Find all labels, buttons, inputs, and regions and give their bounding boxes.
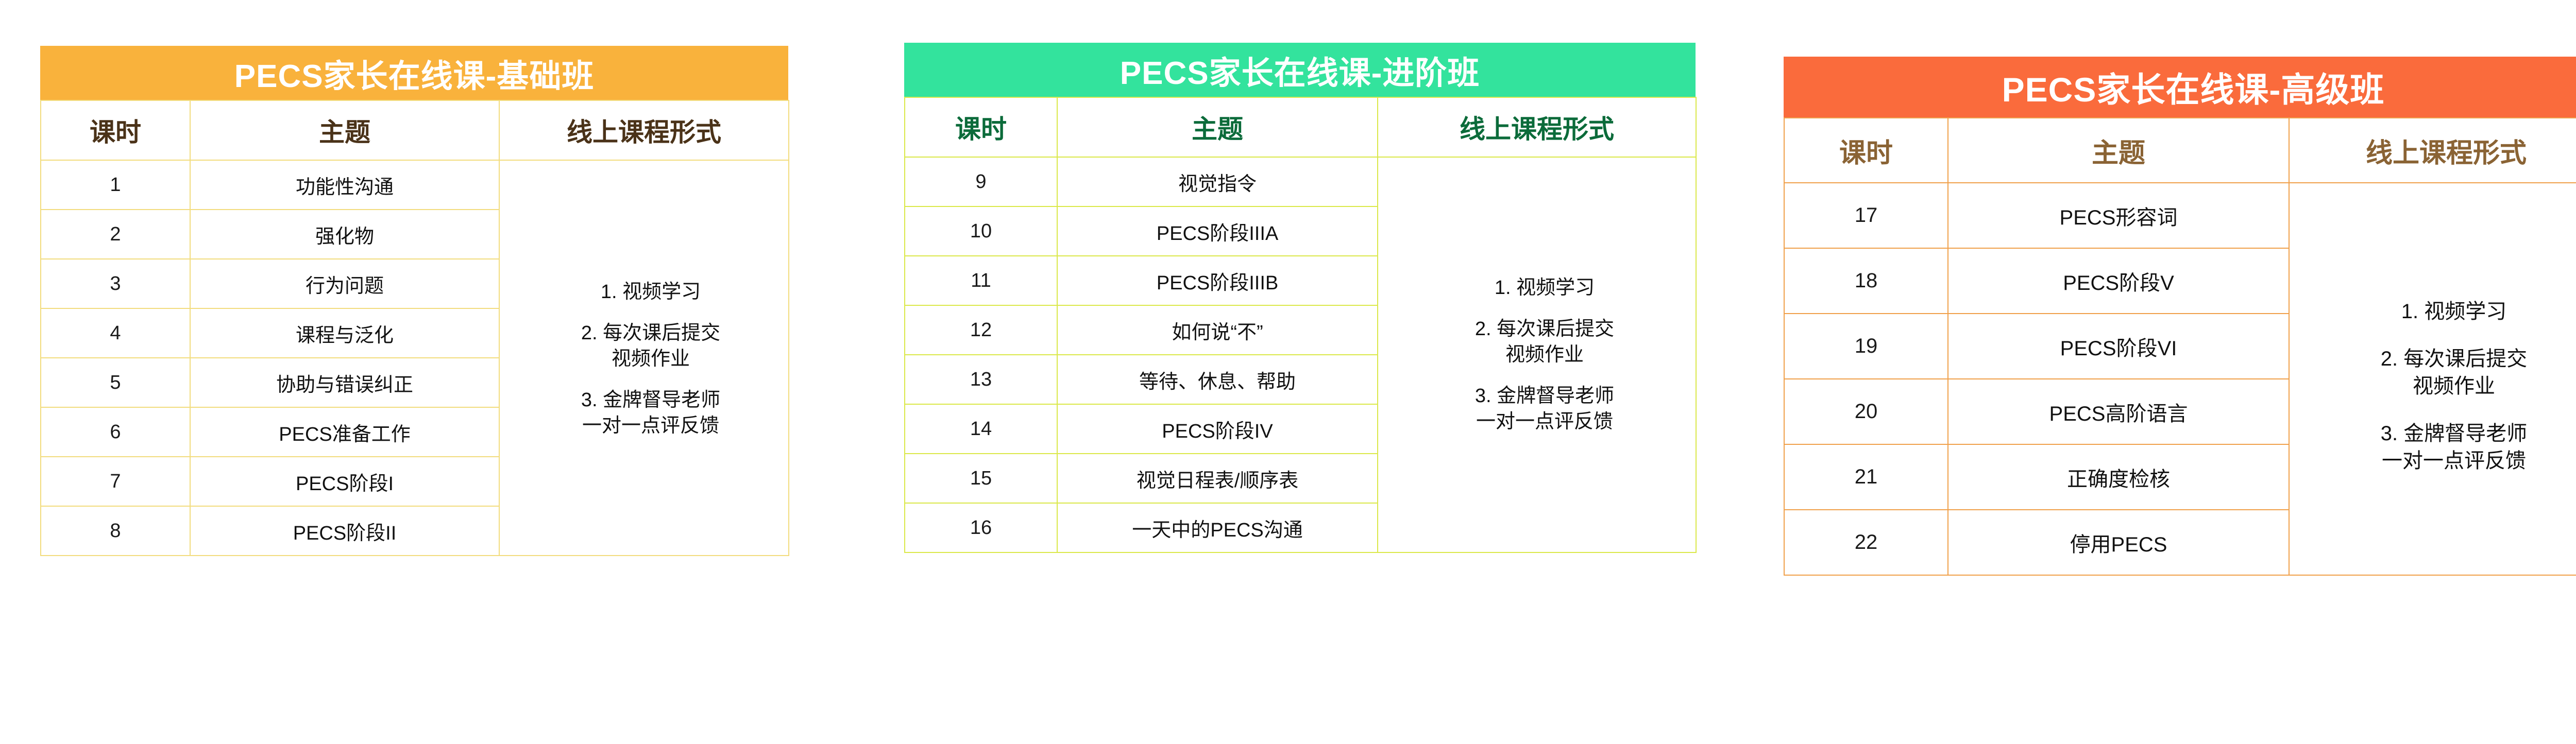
lesson-topic: 停用PECS — [1948, 510, 2289, 575]
column-header-lesson: 课时 — [905, 97, 1057, 157]
lesson-number: 10 — [905, 206, 1057, 256]
lesson-number: 12 — [905, 305, 1057, 355]
column-header-format: 线上课程形式 — [1378, 97, 1696, 157]
course-card-advanced-title: PECS家长在线课-进阶班 — [904, 43, 1696, 97]
lesson-topic: 课程与泛化 — [190, 308, 499, 358]
lesson-number: 17 — [1784, 183, 1948, 248]
table-row: 1 功能性沟通 1. 视频学习 2. 每次课后提交 视频作业 3. 金牌督导老师… — [41, 160, 789, 210]
lesson-topic: 等待、休息、帮助 — [1057, 355, 1378, 404]
online-format-cell: 1. 视频学习 2. 每次课后提交 视频作业 3. 金牌督导老师 一对一点评反馈 — [499, 160, 789, 556]
lesson-topic: PECS阶段I — [190, 457, 499, 506]
table-row: 9 视觉指令 1. 视频学习 2. 每次课后提交 视频作业 3. 金牌督导老师 … — [905, 157, 1696, 206]
lesson-topic: 正确度检核 — [1948, 444, 2289, 510]
format-item-1: 1. 视频学习 — [2305, 298, 2576, 326]
format-item-1: 1. 视频学习 — [1394, 275, 1696, 301]
lesson-number: 8 — [41, 506, 190, 556]
lesson-number: 15 — [905, 454, 1057, 503]
lesson-topic: PECS阶段IIIA — [1057, 206, 1378, 256]
course-schedule-board: PECS家长在线课-基础班 课时 主题 线上课程形式 1 功能性沟通 1 — [0, 0, 2576, 744]
lesson-number: 5 — [41, 358, 190, 407]
format-item-2: 2. 每次课后提交 视频作业 — [513, 320, 788, 372]
lesson-number: 7 — [41, 457, 190, 506]
format-item-2: 2. 每次课后提交 视频作业 — [1394, 316, 1696, 368]
lesson-number: 2 — [41, 210, 190, 259]
course-table-senior: 课时 主题 线上课程形式 17 PECS形容词 1. 视频学习 2. 每次课后提… — [1784, 117, 2576, 576]
lesson-number: 3 — [41, 259, 190, 308]
lesson-number: 9 — [905, 157, 1057, 206]
lesson-number: 6 — [41, 407, 190, 457]
lesson-topic: 如何说“不” — [1057, 305, 1378, 355]
format-item-2: 2. 每次课后提交 视频作业 — [2305, 345, 2576, 401]
online-format-cell: 1. 视频学习 2. 每次课后提交 视频作业 3. 金牌督导老师 一对一点评反馈 — [1378, 157, 1696, 552]
lesson-topic: PECS阶段IV — [1057, 404, 1378, 454]
lesson-topic: PECS高阶语言 — [1948, 379, 2289, 444]
lesson-number: 20 — [1784, 379, 1948, 444]
lesson-number: 22 — [1784, 510, 1948, 575]
lesson-topic: PECS阶段VI — [1948, 314, 2289, 379]
column-header-lesson: 课时 — [1784, 118, 1948, 183]
table-header-row: 课时 主题 线上课程形式 — [905, 97, 1696, 157]
lesson-number: 4 — [41, 308, 190, 358]
lesson-topic: PECS阶段II — [190, 506, 499, 556]
lesson-topic: 协助与错误纠正 — [190, 358, 499, 407]
lesson-number: 11 — [905, 256, 1057, 305]
column-header-lesson: 课时 — [41, 100, 190, 160]
lesson-topic: 一天中的PECS沟通 — [1057, 503, 1378, 552]
course-card-senior-title: PECS家长在线课-高级班 — [1784, 57, 2576, 117]
online-format-cell: 1. 视频学习 2. 每次课后提交 视频作业 3. 金牌督导老师 一对一点评反馈 — [2289, 183, 2576, 575]
format-item-3: 3. 金牌督导老师 一对一点评反馈 — [513, 387, 788, 439]
lesson-number: 18 — [1784, 248, 1948, 314]
format-list: 1. 视频学习 2. 每次课后提交 视频作业 3. 金牌督导老师 一对一点评反馈 — [1394, 275, 1696, 435]
lesson-number: 1 — [41, 160, 190, 210]
lesson-number: 16 — [905, 503, 1057, 552]
column-header-topic: 主题 — [1948, 118, 2289, 183]
lesson-topic: 视觉指令 — [1057, 157, 1378, 206]
course-table-basic: 课时 主题 线上课程形式 1 功能性沟通 1. 视频学习 2. 每次课后提交 视… — [40, 100, 789, 556]
format-item-3: 3. 金牌督导老师 一对一点评反馈 — [2305, 420, 2576, 475]
lesson-topic: 功能性沟通 — [190, 160, 499, 210]
lesson-number: 14 — [905, 404, 1057, 454]
format-list: 1. 视频学习 2. 每次课后提交 视频作业 3. 金牌督导老师 一对一点评反馈 — [2305, 298, 2576, 475]
table-header-row: 课时 主题 线上课程形式 — [1784, 118, 2576, 183]
format-item-3: 3. 金牌督导老师 一对一点评反馈 — [1394, 383, 1696, 435]
lesson-number: 19 — [1784, 314, 1948, 379]
table-row: 17 PECS形容词 1. 视频学习 2. 每次课后提交 视频作业 3. 金牌督… — [1784, 183, 2576, 248]
course-card-basic-title: PECS家长在线课-基础班 — [40, 46, 788, 100]
column-header-format: 线上课程形式 — [2289, 118, 2576, 183]
lesson-topic: 视觉日程表/顺序表 — [1057, 454, 1378, 503]
column-header-topic: 主题 — [1057, 97, 1378, 157]
lesson-topic: PECS阶段V — [1948, 248, 2289, 314]
lesson-topic: 行为问题 — [190, 259, 499, 308]
lesson-topic: 强化物 — [190, 210, 499, 259]
lesson-number: 21 — [1784, 444, 1948, 510]
column-header-format: 线上课程形式 — [499, 100, 789, 160]
course-table-advanced: 课时 主题 线上课程形式 9 视觉指令 1. 视频学习 2. 每次课后提交 视频… — [904, 97, 1697, 553]
lesson-number: 13 — [905, 355, 1057, 404]
column-header-topic: 主题 — [190, 100, 499, 160]
course-card-senior: PECS家长在线课-高级班 课时 主题 线上课程形式 17 PECS形容词 — [1784, 57, 2576, 576]
table-header-row: 课时 主题 线上课程形式 — [41, 100, 789, 160]
format-list: 1. 视频学习 2. 每次课后提交 视频作业 3. 金牌督导老师 一对一点评反馈 — [513, 279, 788, 439]
format-item-1: 1. 视频学习 — [513, 279, 788, 305]
lesson-topic: PECS形容词 — [1948, 183, 2289, 248]
course-card-basic: PECS家长在线课-基础班 课时 主题 线上课程形式 1 功能性沟通 1 — [40, 46, 788, 556]
lesson-topic: PECS准备工作 — [190, 407, 499, 457]
course-card-advanced: PECS家长在线课-进阶班 课时 主题 线上课程形式 9 视觉指令 1. — [904, 43, 1696, 553]
lesson-topic: PECS阶段IIIB — [1057, 256, 1378, 305]
